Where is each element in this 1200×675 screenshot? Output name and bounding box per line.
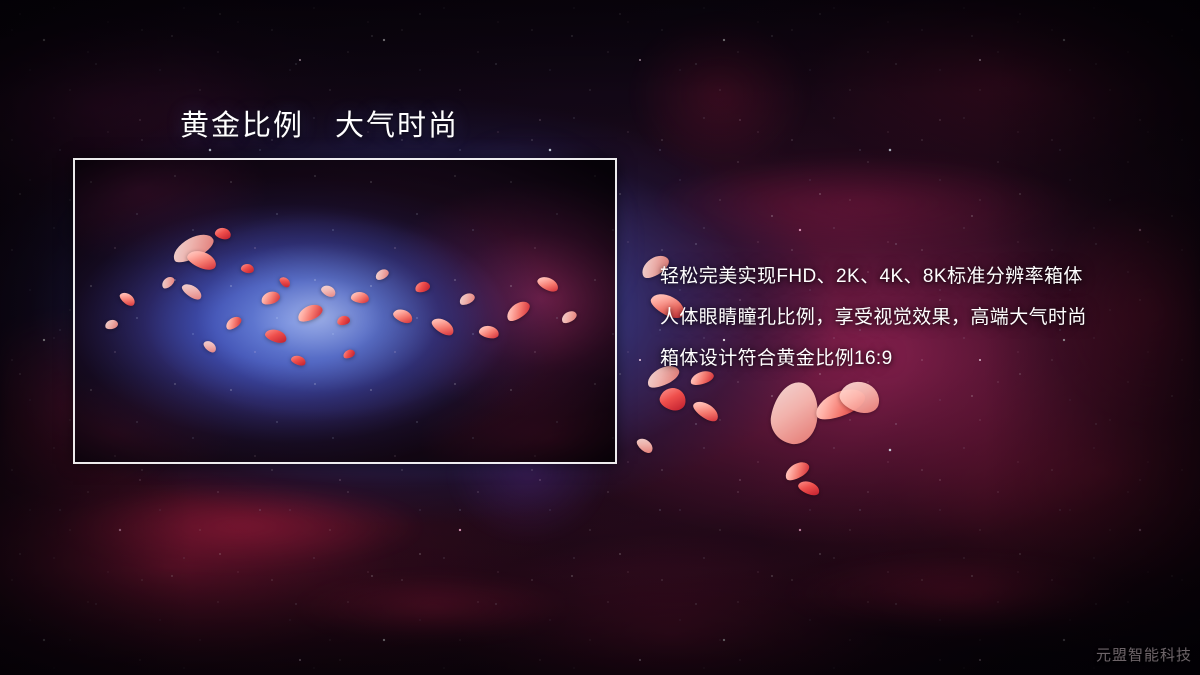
- slide-canvas: 黄金比例 大气时尚 轻松完美实现FHD、2K、4K、8K标准分辨率箱体 人体眼睛…: [0, 0, 1200, 675]
- flower-petal: [782, 458, 812, 483]
- description-line-3: 箱体设计符合黄金比例16:9: [660, 338, 1140, 379]
- description-line-2: 人体眼睛瞳孔比例，享受视觉效果，高端大气时尚: [660, 297, 1140, 338]
- panel-vignette: [75, 160, 615, 462]
- description-line-1: 轻松完美实现FHD、2K、4K、8K标准分辨率箱体: [660, 256, 1140, 297]
- description-text-block: 轻松完美实现FHD、2K、4K、8K标准分辨率箱体 人体眼睛瞳孔比例，享受视觉效…: [660, 256, 1140, 379]
- framed-image-panel: [73, 158, 617, 464]
- page-title: 黄金比例 大气时尚: [180, 102, 459, 144]
- flower-petal: [797, 478, 822, 497]
- flower-petal: [690, 397, 721, 424]
- flower-petal: [657, 385, 688, 413]
- watermark-label: 元盟智能科技: [1096, 644, 1192, 665]
- flower-petal: [767, 378, 823, 447]
- flower-petal: [635, 436, 656, 456]
